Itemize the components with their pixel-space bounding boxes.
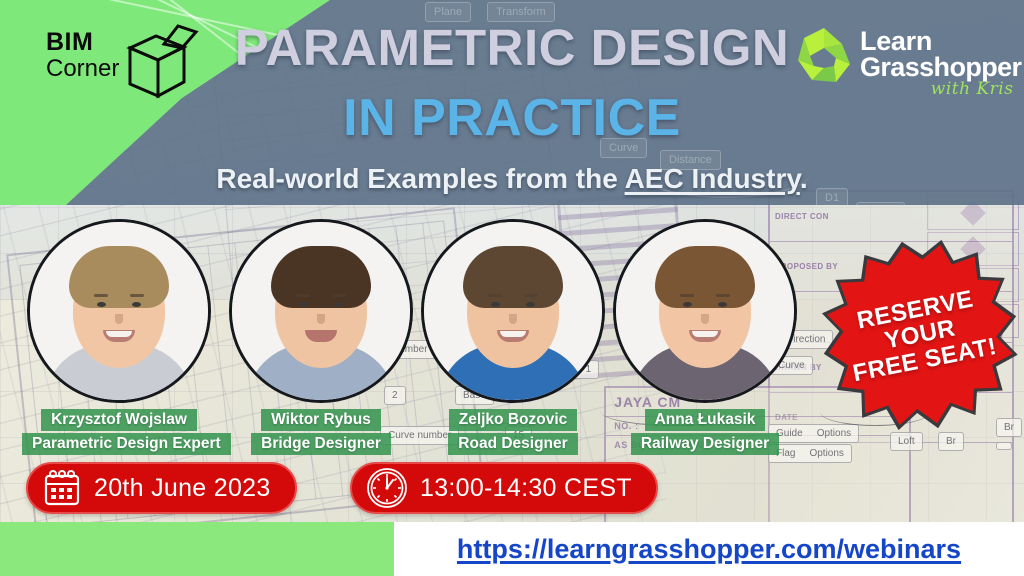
speaker-card: Anna Łukasik Railway Designer [608,219,802,455]
speaker-card: Wiktor Rybus Bridge Designer [224,219,418,455]
date-pill[interactable]: 20th June 2023 [26,462,297,514]
speaker-portrait [30,222,208,400]
speaker-portrait [424,222,602,400]
speaker-name: Wiktor Rybus [261,409,381,431]
speaker-portrait [232,222,410,400]
speaker-role: Railway Designer [631,433,779,455]
speaker-card: Zeljko Bozovic Road Designer [416,219,610,455]
speaker-name: Anna Łukasik [645,409,766,431]
subtitle-prefix: Real-world Examples from the [216,163,624,194]
speaker-role: Road Designer [448,433,577,455]
url-panel: https://learngrasshopper.com/webinars [394,522,1024,576]
subtitle-underlined: AEC Industry [625,163,800,194]
time-pill[interactable]: 13:00-14:30 CEST [350,462,658,514]
webinar-url-link[interactable]: https://learngrasshopper.com/webinars [457,534,961,565]
avatar [229,219,413,403]
speaker-card: Krzysztof Wojslaw Parametric Design Expe… [22,219,216,455]
speaker-name: Zeljko Bozovic [449,409,578,431]
calendar-icon [42,468,82,508]
speaker-portrait [616,222,794,400]
header-band: Plane Transform Curve Distance D1 D2 Res… [0,0,1024,205]
footer-band: https://learngrasshopper.com/webinars [0,522,1024,576]
time-text: 13:00-14:30 CEST [420,474,632,503]
avatar [421,219,605,403]
speaker-name: Krzysztof Wojslaw [41,409,197,431]
avatar [27,219,211,403]
page-subtitle: Real-world Examples from the AEC Industr… [0,163,1024,195]
page-title-line1: PARAMETRIC DESIGN [0,18,1024,77]
reserve-seat-badge[interactable]: RESERVE YOUR FREE SEAT! [806,223,1024,447]
webinar-poster: DIRECT CON PROPOSED BY DATE DRAWN BY DAT… [0,0,1024,576]
page-title-line2: IN PRACTICE [0,88,1024,148]
subtitle-suffix: . [800,163,808,194]
date-text: 20th June 2023 [94,474,271,503]
speaker-role: Bridge Designer [251,433,391,455]
avatar [613,219,797,403]
clock-icon [366,467,408,509]
speaker-role: Parametric Design Expert [22,433,231,455]
reserve-seat-badge-text: RESERVE YOUR FREE SEAT! [806,223,1024,447]
